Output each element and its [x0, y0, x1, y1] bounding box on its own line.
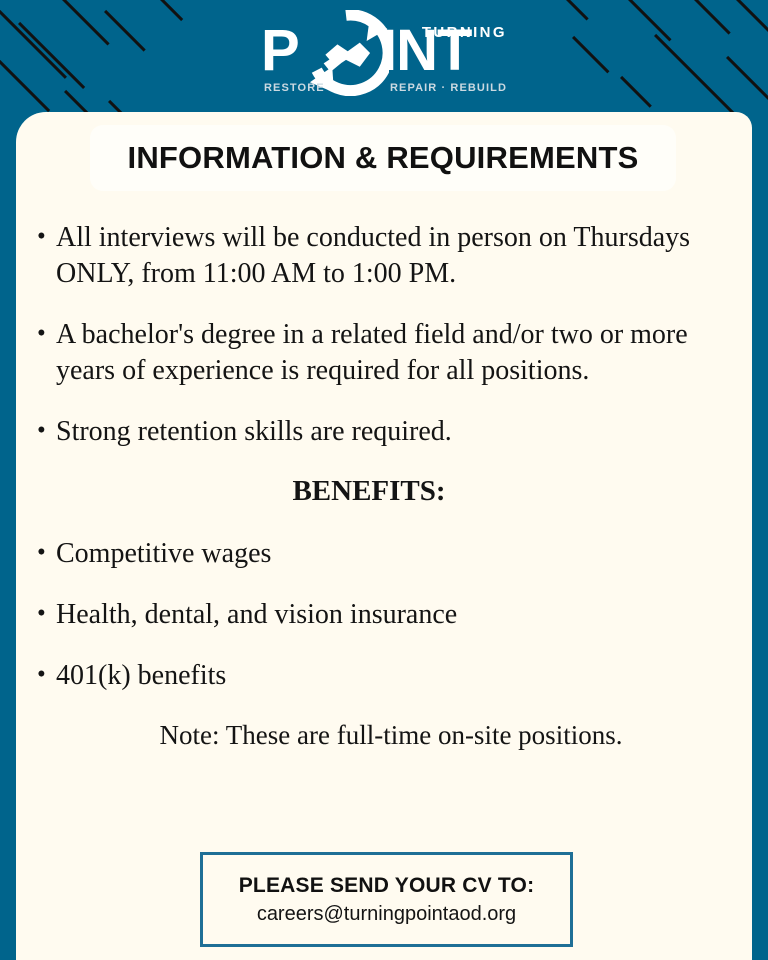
page-title-box: INFORMATION & REQUIREMENTS — [90, 125, 676, 191]
benefits-heading: BENEFITS: — [16, 475, 752, 508]
list-item: Health, dental, and vision insurance — [16, 597, 752, 633]
list-item: Strong retention skills are required. — [16, 414, 752, 450]
benefits-list: Competitive wages Health, dental, and vi… — [16, 536, 752, 694]
logo-letter-p: P — [261, 22, 299, 80]
logo-wordmark: P INT TURNING — [261, 22, 507, 80]
logo-top-word: TURNING — [422, 24, 507, 41]
list-item: A bachelor's degree in a related field a… — [16, 317, 752, 389]
list-item: All interviews will be conducted in pers… — [16, 220, 752, 292]
cv-label: PLEASE SEND YOUR CV TO: — [239, 874, 535, 898]
logo-tagline-right: REPAIR · REBUILD — [390, 82, 507, 94]
brand-logo: P INT TURNING RESTORE REPAIR · REBUILD — [0, 6, 768, 106]
content-body: All interviews will be conducted in pers… — [16, 220, 752, 751]
cv-email[interactable]: careers@turningpointaod.org — [257, 903, 516, 926]
logo-tagline-left: RESTORE — [264, 82, 325, 94]
requirements-list: All interviews will be conducted in pers… — [16, 220, 752, 450]
logo-tagline: RESTORE REPAIR · REBUILD — [261, 82, 507, 96]
list-item: 401(k) benefits — [16, 658, 752, 694]
note-text: Note: These are full-time on-site positi… — [16, 720, 752, 751]
list-item: Competitive wages — [16, 536, 752, 572]
cv-callout-box: PLEASE SEND YOUR CV TO: careers@turningp… — [200, 852, 573, 947]
page-title: INFORMATION & REQUIREMENTS — [128, 140, 639, 176]
content-card: INFORMATION & REQUIREMENTS All interview… — [16, 112, 752, 960]
poster-root: P INT TURNING RESTORE REPAIR · REBUILD I… — [0, 0, 768, 960]
